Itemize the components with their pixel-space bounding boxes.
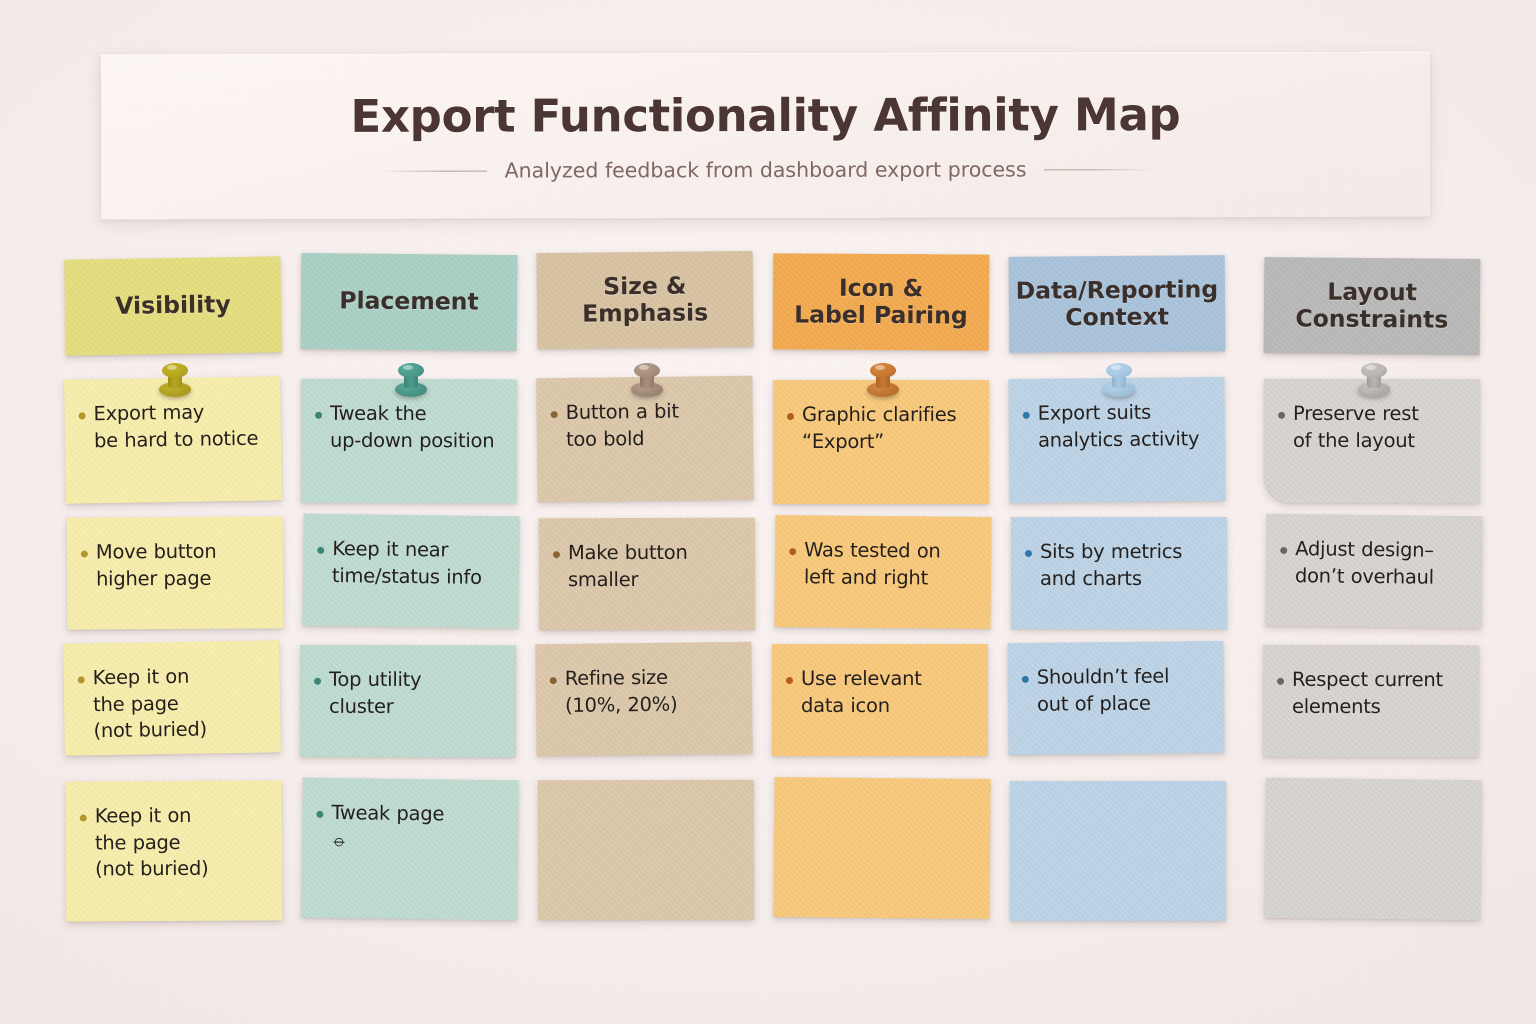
pushpin-icon[interactable] [1357, 362, 1391, 402]
note-body: Tweak theup-down position [315, 401, 503, 455]
note-text-line: Export suits [1038, 399, 1200, 427]
note-text: Button a bittoo bold [566, 399, 680, 453]
note-body: Preserve restof the layout [1278, 401, 1466, 454]
note-body: Use relevantdata icon [786, 666, 974, 719]
note-text-line: Export may [93, 399, 258, 428]
note-text-line: elements [1292, 693, 1443, 720]
note-text: Refine size(10%, 20%) [565, 665, 678, 719]
note-text: Graphic clarifies“Export” [802, 402, 956, 455]
note-text: Keep it neartime/status info [332, 536, 482, 591]
note-body: Button a bittoo bold [551, 398, 740, 453]
sticky-note[interactable]: Adjust design–don’t overhaul [1265, 514, 1482, 628]
note-text-line: Adjust design– [1295, 536, 1434, 564]
note-text: Keep it onthe page(not buried) [92, 663, 207, 744]
note-body: Tweak page⦵ [316, 800, 505, 855]
sticky-note[interactable]: Respect currentelements [1263, 645, 1479, 757]
pushpin-icon[interactable] [158, 362, 192, 402]
bullet-icon [787, 413, 794, 420]
paper-texture [1010, 781, 1226, 921]
note-text-line: be hard to notice [94, 425, 259, 454]
note-text: Tweak theup-down position [330, 401, 494, 454]
note-text: Export maybe hard to notice [93, 399, 258, 455]
note-text-line: smaller [568, 566, 688, 593]
pushpin-icon[interactable] [394, 362, 428, 402]
bullet-icon [553, 551, 560, 558]
sticky-note[interactable]: Shouldn’t feelout of place [1007, 641, 1224, 755]
pushpin-icon[interactable] [1102, 362, 1136, 402]
note-text-line: too bold [566, 425, 679, 453]
column-header-layout-constraints[interactable]: LayoutConstraints [1264, 257, 1481, 355]
note-text: Preserve restof the layout [1293, 401, 1419, 454]
note-text-line: data icon [801, 693, 922, 720]
note-body: Export suitsanalytics activity [1023, 399, 1212, 454]
bullet-icon [79, 412, 86, 419]
note-text-line: out of place [1037, 690, 1170, 718]
sticky-note[interactable]: Keep it onthe page(not buried) [63, 640, 281, 755]
note-text-line: Button a bit [566, 399, 679, 427]
bullet-icon [786, 677, 793, 684]
note-text: Respect currentelements [1292, 667, 1443, 720]
column-header-placement[interactable]: Placement [301, 253, 518, 351]
note-body: Keep it onthe page(not buried) [77, 663, 266, 745]
note-text-line: Preserve rest [1293, 401, 1419, 428]
note-text-line: Tweak page [331, 800, 444, 828]
sticky-note[interactable]: Sits by metricsand charts [1011, 517, 1227, 629]
note-text-line: analytics activity [1038, 426, 1200, 454]
note-body: Make buttonsmaller [553, 540, 741, 593]
note-text-line: Respect current [1292, 667, 1443, 694]
sticky-note[interactable]: Was tested onleft and right [774, 515, 991, 629]
bullet-icon [1025, 550, 1032, 557]
sticky-note[interactable] [1264, 778, 1482, 920]
note-text-line: Was tested on [804, 537, 941, 565]
note-text: Sits by metricsand charts [1040, 539, 1182, 592]
note-text-line: don’t overhaul [1295, 563, 1434, 591]
note-body: Top utilitycluster [314, 667, 502, 721]
affinity-grid: VisibilityExport maybe hard to noticeMov… [0, 0, 1536, 1024]
note-text-line: Move button [96, 539, 217, 566]
sticky-note[interactable]: Make buttonsmaller [539, 518, 755, 630]
note-body: Was tested onleft and right [789, 537, 978, 592]
note-text: Shouldn’t feelout of place [1037, 663, 1170, 717]
note-text: Was tested onleft and right [804, 537, 941, 591]
note-body: Move buttonhigher page [81, 538, 269, 592]
pushpin-highlight [167, 365, 177, 370]
note-text: Adjust design–don’t overhaul [1295, 536, 1435, 591]
sticky-note[interactable] [538, 780, 754, 920]
bullet-icon [1022, 676, 1029, 683]
note-text-line: Sits by metrics [1040, 539, 1182, 566]
sticky-note[interactable]: Top utilitycluster [300, 645, 516, 758]
pushpin-highlight [639, 365, 649, 370]
note-text-line: and charts [1040, 565, 1182, 592]
column-header-icon-label-pairing[interactable]: Icon &Label Pairing [773, 253, 990, 350]
bullet-icon [1277, 678, 1284, 685]
note-text: Move buttonhigher page [96, 539, 217, 593]
paper-texture [538, 780, 754, 920]
note-text-line: the page [93, 690, 207, 718]
note-text-line: Refine size [565, 665, 678, 693]
note-body: Export maybe hard to notice [78, 399, 267, 455]
column-header-label: Data/ReportingContext [1016, 276, 1219, 333]
sticky-note[interactable] [1010, 781, 1226, 921]
bullet-icon [551, 411, 558, 418]
note-text-line: time/status info [332, 563, 482, 591]
bullet-icon [314, 678, 321, 685]
note-body: Adjust design–don’t overhaul [1280, 536, 1469, 591]
bullet-icon [78, 676, 85, 683]
note-text-line: Keep it near [332, 536, 482, 564]
paper-texture [1264, 778, 1482, 920]
note-text: Make buttonsmaller [568, 540, 688, 593]
note-text: Export suitsanalytics activity [1038, 399, 1200, 454]
sticky-note[interactable]: Keep it onthe page(not buried) [66, 780, 283, 921]
column-header-label: Icon &Label Pairing [794, 274, 968, 330]
sticky-note[interactable]: Move buttonhigher page [67, 516, 284, 629]
note-text-line: Graphic clarifies [802, 402, 956, 429]
bullet-icon [1278, 412, 1285, 419]
note-text-line: left and right [804, 564, 941, 592]
note-text-line: Keep it on [92, 663, 206, 691]
sticky-note[interactable]: Refine size(10%, 20%) [535, 642, 752, 757]
sticky-note[interactable]: Keep it neartime/status info [302, 514, 519, 629]
note-text-line: (not buried) [95, 856, 209, 883]
note-text: Tweak page⦵ [331, 800, 444, 854]
note-text-line: Tweak the [330, 401, 494, 428]
note-body: Shouldn’t feelout of place [1022, 663, 1211, 718]
bullet-icon [81, 551, 88, 558]
pushpin-highlight [1366, 365, 1376, 370]
bullet-icon [550, 677, 557, 684]
sticky-note[interactable]: Tweak page⦵ [301, 778, 519, 921]
note-text-line: Top utility [329, 667, 421, 694]
pushpin-icon[interactable] [630, 362, 664, 402]
note-body: Keep it neartime/status info [317, 536, 506, 591]
pushpin-highlight [1111, 365, 1121, 370]
sticky-note[interactable] [773, 777, 990, 919]
column-header-visibility[interactable]: Visibility [64, 256, 281, 355]
note-text-line: up-down position [330, 427, 494, 454]
paper-texture [773, 777, 990, 919]
note-text-line: Use relevant [801, 666, 922, 693]
note-text-line: “Export” [802, 429, 956, 456]
note-body: Graphic clarifies“Export” [787, 402, 975, 455]
column-header-label: Size &Emphasis [582, 272, 709, 328]
pushpin-icon[interactable] [866, 362, 900, 402]
note-text-line: of the layout [1293, 427, 1419, 454]
pushpin-highlight [403, 365, 413, 370]
note-text-line: Make button [568, 540, 688, 567]
note-text: Use relevantdata icon [801, 666, 922, 719]
note-text-line: Shouldn’t feel [1037, 663, 1170, 691]
note-body: Keep it onthe page(not buried) [80, 802, 268, 883]
note-text-line: (10%, 20%) [565, 691, 678, 719]
bullet-icon [1023, 412, 1030, 419]
note-body: Refine size(10%, 20%) [550, 664, 739, 719]
bullet-icon [789, 548, 796, 555]
bullet-icon [315, 412, 322, 419]
note-body: Sits by metricsand charts [1025, 539, 1213, 592]
note-text-line: (not buried) [93, 716, 207, 744]
note-text: Top utilitycluster [329, 667, 421, 720]
note-text-line: the page [95, 829, 209, 856]
column-header-label: Visibility [115, 291, 231, 320]
sticky-note[interactable]: Use relevantdata icon [772, 644, 988, 756]
note-text-line: cluster [329, 693, 421, 720]
column-header-label: Placement [339, 288, 479, 317]
column-header-label: LayoutConstraints [1295, 278, 1448, 334]
column-header-data-reporting-context[interactable]: Data/ReportingContext [1009, 255, 1226, 353]
note-body: Respect currentelements [1277, 667, 1465, 720]
bullet-icon [80, 815, 87, 822]
note-text: Keep it onthe page(not buried) [95, 803, 209, 883]
column-header-size-emphasis[interactable]: Size &Emphasis [537, 251, 754, 349]
pushpin-highlight [875, 365, 885, 370]
note-text-line: Keep it on [95, 803, 209, 830]
bullet-icon [1280, 547, 1287, 554]
note-text-line: ⦵ [331, 827, 444, 855]
note-text-line: higher page [96, 565, 217, 592]
bullet-icon [316, 811, 323, 818]
bullet-icon [317, 547, 324, 554]
